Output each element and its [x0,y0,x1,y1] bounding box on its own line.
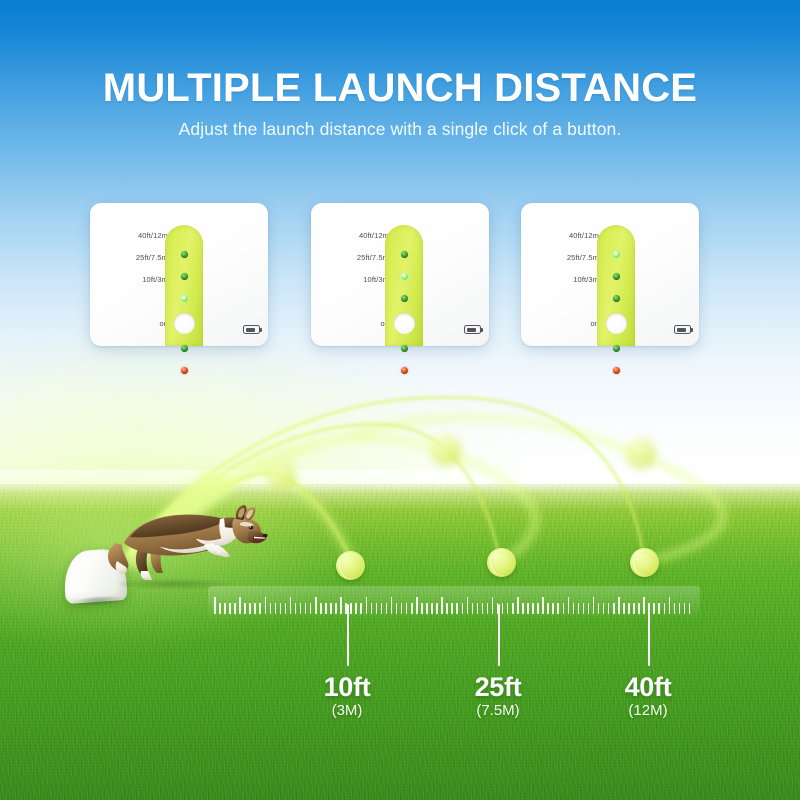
tennis-ball-10ft [336,551,365,580]
ruler-tick-minor [638,603,640,614]
ruler-tick-minor [396,603,398,614]
ruler-tick-minor [456,603,458,614]
ruler-tick-major [568,597,570,614]
ruler-tick-major [517,597,519,614]
ruler-tick-minor [325,603,327,614]
ruler-tick-minor [421,603,423,614]
ruler-tick-minor [674,603,676,614]
ruler-tick-minor [295,603,297,614]
ruler-tick-minor [679,603,681,614]
marker-line-10ft [347,604,349,666]
ruler-tick-major [366,597,368,614]
ruler-tick-minor [658,603,660,614]
ruler-tick-minor [270,603,272,614]
ruler-tick-minor [224,603,226,614]
ruler-tick-minor [482,603,484,614]
ruler-tick-minor [360,603,362,614]
ruler-tick-major [239,597,241,614]
distance-value-ft: 10ft [287,672,407,703]
ruler-tick-minor [633,603,635,614]
ruler-tick-minor [355,603,357,614]
ruler-tick-minor [557,603,559,614]
ruler-tick-minor [462,603,464,614]
tennis-ball-air-40ft [625,438,656,469]
ruler-tick-minor [598,603,600,614]
ruler-tick-minor [583,603,585,614]
ruler-tick-minor [426,603,428,614]
ruler-tick-minor [512,603,514,614]
ruler-tick-major [391,597,393,614]
ruler-tick-major [340,597,342,614]
distance-value-ft: 25ft [438,672,558,703]
marker-line-40ft [648,604,650,666]
ruler-tick-minor [219,603,221,614]
ruler-tick-minor [280,603,282,614]
ruler-tick-major [618,597,620,614]
ruler-tick-minor [537,603,539,614]
ruler-tick-minor [330,603,332,614]
ruler-tick-minor [451,603,453,614]
ruler-tick-major [214,597,216,614]
ruler-tick-minor [371,603,373,614]
ruler-tick-minor [507,603,509,614]
ruler-tick-minor [406,603,408,614]
ruler-tick-major [265,597,267,614]
ruler-tick-minor [527,603,529,614]
ruler-tick-minor [573,603,575,614]
distance-value-m: (12M) [588,702,708,719]
ruler-tick-minor [259,603,261,614]
ruler-tick-minor [350,603,352,614]
jumping-dog [108,503,268,581]
ruler-tick-major [593,597,595,614]
ruler-tick-major [643,597,645,614]
tennis-ball-40ft [630,548,659,577]
ruler-tick-minor [249,603,251,614]
ruler-tick-minor [563,603,565,614]
ruler-tick-minor [244,603,246,614]
ruler-tick-minor [431,603,433,614]
tennis-ball-25ft [487,548,516,577]
ruler-tick-minor [381,603,383,614]
distance-label-10ft: 10ft (3M) [287,672,407,719]
ruler-tick-minor [254,603,256,614]
ruler-tick-minor [376,603,378,614]
ruler-tick-minor [522,603,524,614]
ruler-tick-major [467,597,469,614]
distance-label-40ft: 40ft (12M) [588,672,708,719]
ruler-tick-minor [608,603,610,614]
ruler-tick-minor [502,603,504,614]
ruler-tick-minor [552,603,554,614]
ruler-tick-minor [234,603,236,614]
ruler-tick-minor [320,603,322,614]
ruler-tick-minor [310,603,312,614]
ruler-tick-minor [446,603,448,614]
distance-value-m: (7.5M) [438,702,558,719]
ruler-tick-minor [603,603,605,614]
ruler-tick-minor [300,603,302,614]
ruler-tick-minor [229,603,231,614]
ruler-tick-major [290,597,292,614]
ruler-tick-minor [547,603,549,614]
ruler-tick-minor [487,603,489,614]
tennis-ball-air-25ft [430,435,461,466]
ruler-tick-minor [623,603,625,614]
distance-value-ft: 40ft [588,672,708,703]
ruler-tick-major [542,597,544,614]
tennis-ball-air-10ft [266,461,296,491]
distance-label-25ft: 25ft (7.5M) [438,672,558,719]
ruler-tick-minor [472,603,474,614]
ruler-tick-minor [285,603,287,614]
ruler-tick-major [492,597,494,614]
ruler-tick-minor [613,603,615,614]
ruler-tick-minor [664,603,666,614]
ruler-tick-minor [653,603,655,614]
distance-value-m: (3M) [287,702,407,719]
ruler-tick-minor [386,603,388,614]
ruler-tick-minor [411,603,413,614]
marker-line-25ft [498,604,500,666]
ruler-tick-minor [436,603,438,614]
ruler-tick-minor [578,603,580,614]
ruler-tick-minor [588,603,590,614]
ruler-tick-minor [401,603,403,614]
product-infographic: MULTIPLE LAUNCH DISTANCE Adjust the laun… [0,0,800,800]
ruler-tick-minor [335,603,337,614]
ruler-tick-major [441,597,443,614]
ruler-tick-minor [477,603,479,614]
ruler-tick-minor [628,603,630,614]
ruler-tick-major [315,597,317,614]
distance-ruler [214,592,692,614]
ruler-tick-minor [305,603,307,614]
ruler-tick-minor [532,603,534,614]
ruler-tick-minor [684,603,686,614]
ruler-tick-major [416,597,418,614]
ruler-tick-minor [275,603,277,614]
ruler-tick-major [669,597,671,614]
ruler-tick-minor [689,603,691,614]
